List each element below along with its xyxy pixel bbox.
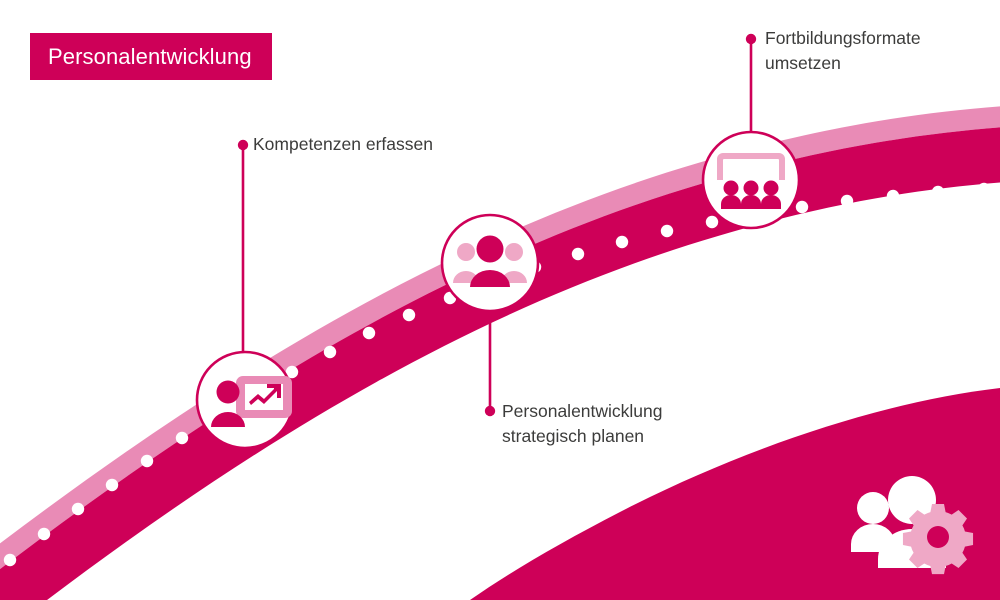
node-kompetenzen-erfassen[interactable] bbox=[197, 352, 293, 448]
node-personalentwicklung-strategisch-planen[interactable] bbox=[442, 215, 538, 311]
leader-line-kompetenzen bbox=[238, 140, 248, 352]
callout-label-strategisch: Personalentwicklung strategisch planen bbox=[502, 399, 663, 449]
callout-label-kompetenzen: Kompetenzen erfassen bbox=[253, 132, 433, 157]
leader-line-strategisch bbox=[485, 312, 495, 416]
title-badge: Personalentwicklung bbox=[30, 33, 272, 80]
callout-label-fortbildung: Fortbildungsformate umsetzen bbox=[765, 26, 921, 76]
page-title: Personalentwicklung bbox=[48, 44, 252, 70]
infographic-canvas: Personalentwicklung Kompetenzen erfassen… bbox=[0, 0, 1000, 600]
infographic-artboard bbox=[0, 0, 1000, 600]
leader-line-fortbildung bbox=[746, 34, 756, 133]
node-fortbildungsformate-umsetzen[interactable] bbox=[703, 132, 799, 228]
